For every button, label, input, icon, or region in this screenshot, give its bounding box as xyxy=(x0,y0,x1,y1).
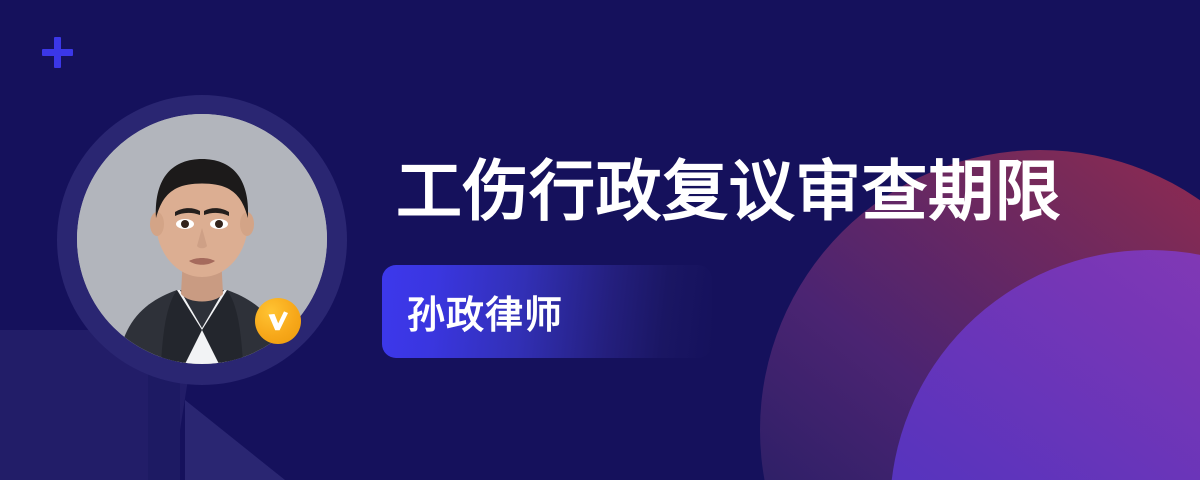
plus-icon xyxy=(42,37,73,68)
page-title: 工伤行政复议审查期限 xyxy=(396,157,1061,226)
author-name-label: 孙政律师 xyxy=(382,284,563,339)
author-name-badge[interactable]: 孙政律师 xyxy=(382,265,712,358)
avatar[interactable] xyxy=(57,95,347,385)
circle-arc-purple-icon xyxy=(890,250,1200,480)
bottom-left-triangle-shape xyxy=(185,400,335,480)
lawyer-article-banner: 工伤行政复议审查期限 孙政律师 xyxy=(0,0,1200,480)
verified-v-icon xyxy=(255,298,301,344)
